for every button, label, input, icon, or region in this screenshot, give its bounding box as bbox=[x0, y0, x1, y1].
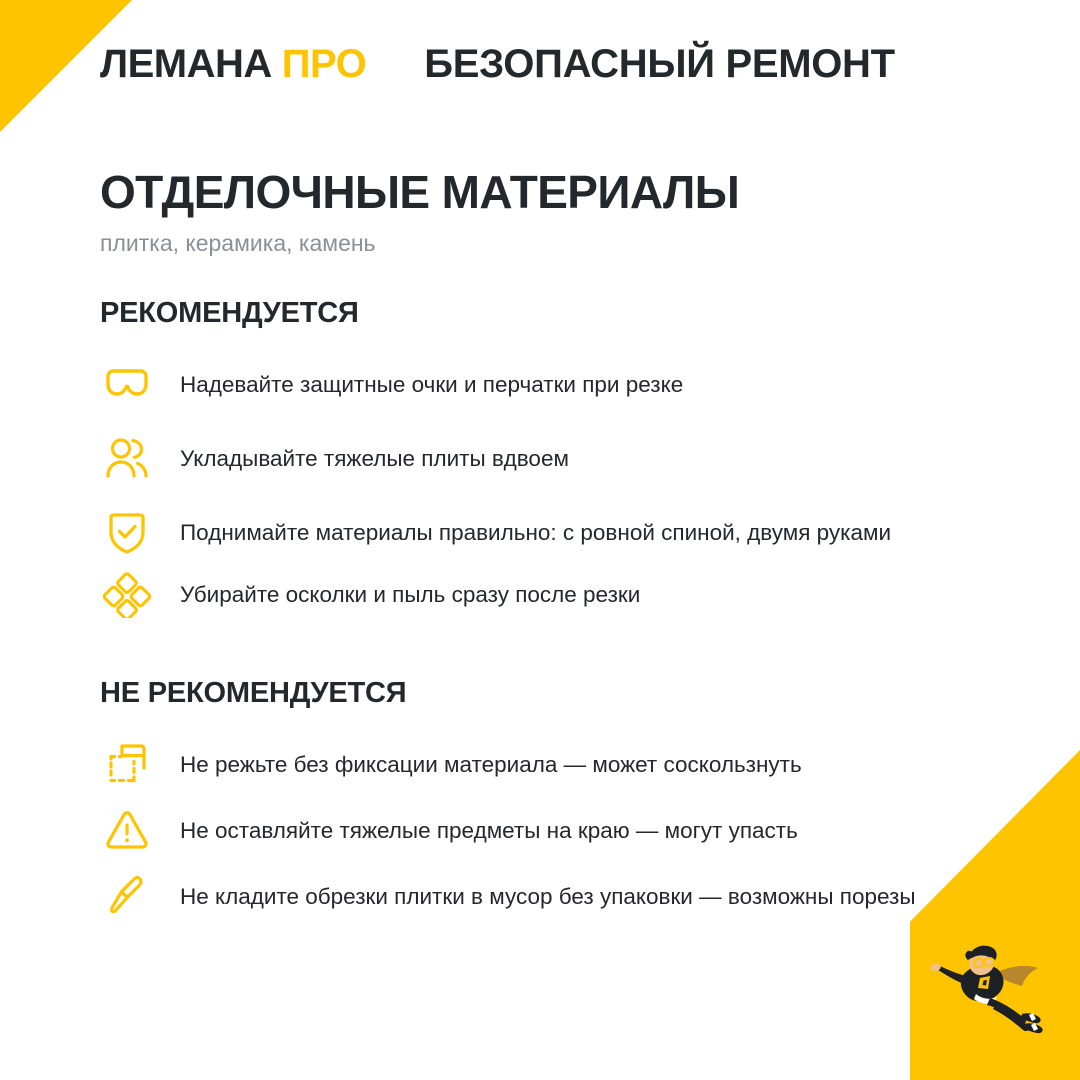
list-item-text: Убирайте осколки и пыль сразу после резк… bbox=[180, 574, 640, 610]
section-not-recommended: НЕ РЕКОМЕНДУЕТСЯ bbox=[100, 678, 960, 942]
list-item: Укладывайте тяжелые плиты вдвоем bbox=[100, 438, 960, 486]
section-heading-not-recommended: НЕ РЕКОМЕНДУЕТСЯ bbox=[100, 678, 960, 710]
list-item-text: Не кладите обрезки плитки в мусор без уп… bbox=[180, 876, 916, 912]
shield-check-icon bbox=[100, 509, 154, 555]
section-recommended: РЕКОМЕНДУЕТСЯ Надевайте защитные очки и … bbox=[100, 298, 960, 648]
logo-main-text: ЛЕМАНА bbox=[100, 42, 272, 86]
list-item-text: Не оставляйте тяжелые предметы на краю —… bbox=[180, 810, 798, 846]
two-people-icon bbox=[100, 435, 154, 481]
poster-canvas: ЛЕМАНАПРО БЕЗОПАСНЫЙ РЕМОНТ ОТДЕЛОЧНЫЕ М… bbox=[0, 0, 1080, 1080]
list-item: Не режьте без фиксации материала — может… bbox=[100, 744, 960, 792]
unfixed-material-icon bbox=[100, 741, 154, 787]
flying-superhero-mascot bbox=[924, 936, 1054, 1044]
section-heading-recommended: РЕКОМЕНДУЕТСЯ bbox=[100, 298, 960, 330]
header-tagline: БЕЗОПАСНЫЙ РЕМОНТ bbox=[424, 44, 895, 84]
list-item: Не оставляйте тяжелые предметы на краю —… bbox=[100, 810, 960, 858]
logo-pro-text: ПРО bbox=[282, 42, 367, 86]
safety-goggles-icon bbox=[100, 361, 154, 407]
page-title: ОТДЕЛОЧНЫЕ МАТЕРИАЛЫ bbox=[100, 168, 960, 218]
list-item-text: Поднимайте материалы правильно: с ровной… bbox=[180, 512, 891, 548]
list-item: Не кладите обрезки плитки в мусор без уп… bbox=[100, 876, 960, 924]
lemana-pro-logo: ЛЕМАНАПРО bbox=[100, 44, 366, 84]
warning-triangle-icon bbox=[100, 807, 154, 853]
list-item-text: Не режьте без фиксации материала — может… bbox=[180, 744, 802, 780]
list-item: Поднимайте материалы правильно: с ровной… bbox=[100, 512, 960, 560]
list-item: Надевайте защитные очки и перчатки при р… bbox=[100, 364, 960, 412]
not-recommended-item-list: Не режьте без фиксации материала — может… bbox=[100, 744, 960, 942]
recommended-item-list: Надевайте защитные очки и перчатки при р… bbox=[100, 364, 960, 648]
four-diamonds-icon bbox=[100, 571, 154, 617]
list-item: Убирайте осколки и пыль сразу после резк… bbox=[100, 574, 960, 622]
knife-icon bbox=[100, 873, 154, 919]
page-subtitle: плитка, керамика, камень bbox=[100, 230, 960, 258]
poster-header: ЛЕМАНАПРО БЕЗОПАСНЫЙ РЕМОНТ bbox=[100, 44, 895, 84]
list-item-text: Укладывайте тяжелые плиты вдвоем bbox=[180, 438, 569, 474]
list-item-text: Надевайте защитные очки и перчатки при р… bbox=[180, 364, 683, 400]
title-block: ОТДЕЛОЧНЫЕ МАТЕРИАЛЫ плитка, керамика, к… bbox=[100, 168, 960, 257]
